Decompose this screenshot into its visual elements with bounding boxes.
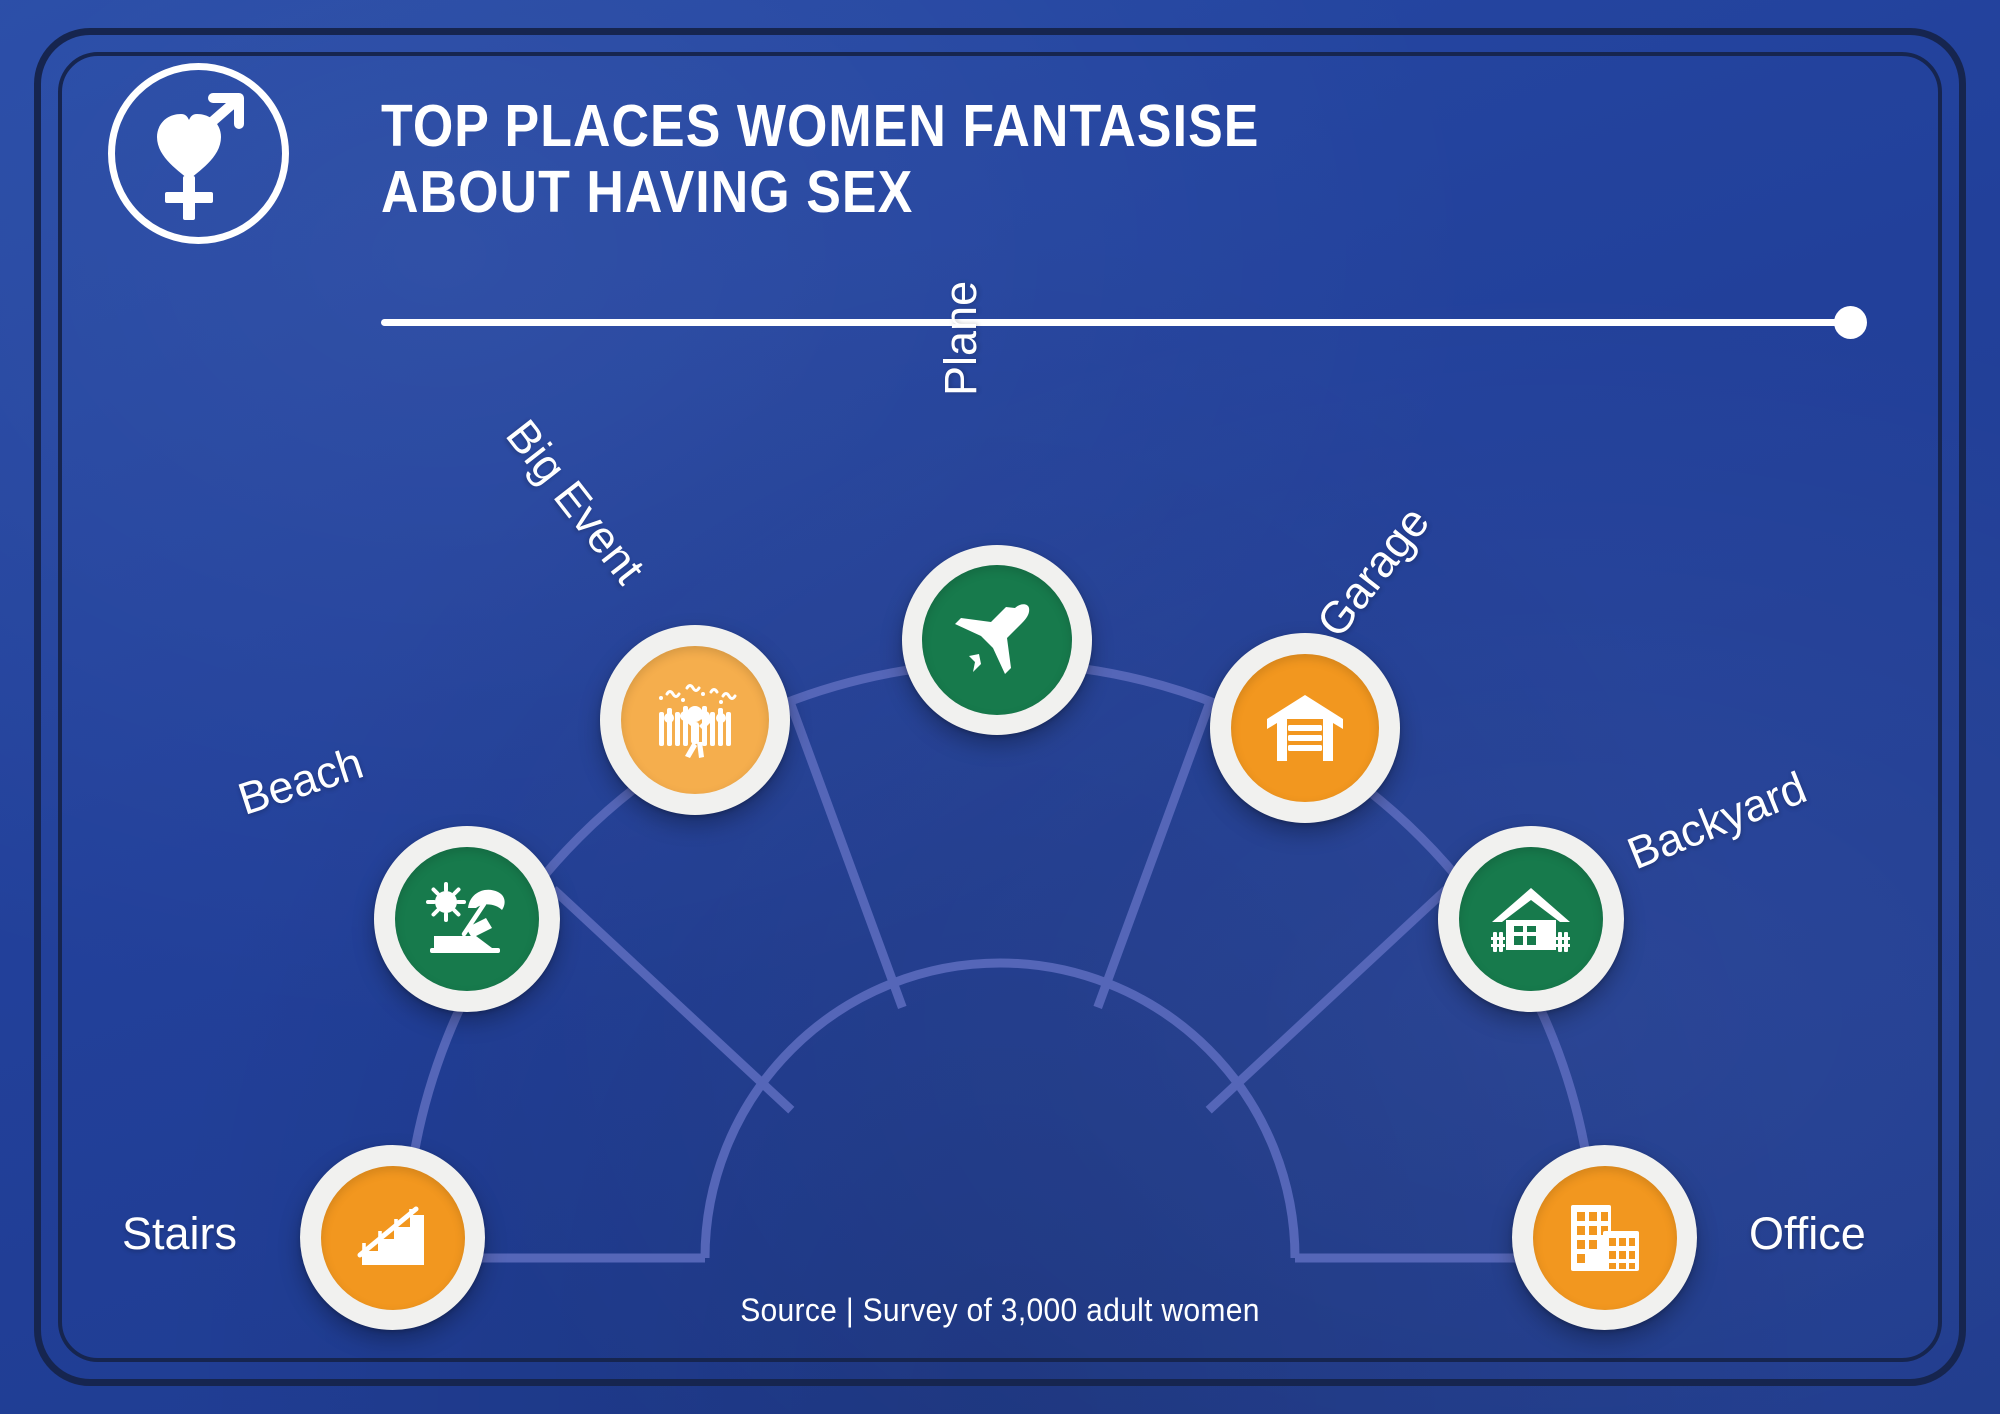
node-big-event[interactable] [600, 625, 790, 815]
node-big-event-disc [621, 646, 769, 794]
node-garage[interactable] [1210, 633, 1400, 823]
node-garage-disc [1231, 654, 1379, 802]
label-stairs: Stairs [122, 1208, 237, 1260]
node-stairs-disc [321, 1166, 465, 1310]
house-fence-icon [1490, 880, 1572, 958]
divider-end-dot [1834, 306, 1867, 339]
infographic-canvas: Top places women fantasise about having … [0, 0, 2000, 1414]
header-divider [381, 319, 1848, 326]
office-buildings-icon [1565, 1199, 1645, 1277]
title-line-1: Top places women fantasise [381, 93, 1349, 159]
node-beach-disc [395, 847, 539, 991]
node-office-disc [1533, 1166, 1677, 1310]
node-backyard[interactable] [1438, 826, 1624, 1012]
node-beach[interactable] [374, 826, 560, 1012]
title-line-2: about having sex [381, 159, 1349, 225]
node-backyard-disc [1459, 847, 1603, 991]
heart-gender-symbol-icon [108, 63, 289, 244]
beach-umbrella-chair-icon [426, 880, 508, 958]
label-plane: Plane [935, 281, 987, 396]
node-plane[interactable] [902, 545, 1092, 735]
label-office: Office [1749, 1208, 1866, 1260]
node-plane-disc [922, 565, 1072, 715]
source-note: Source | Survey of 3,000 adult women [60, 1292, 1940, 1329]
crowd-celebration-icon [653, 680, 737, 760]
stairs-icon [354, 1199, 432, 1277]
airplane-icon [955, 598, 1039, 682]
garage-door-icon [1264, 689, 1346, 767]
page-title: Top places women fantasise about having … [381, 93, 1349, 225]
